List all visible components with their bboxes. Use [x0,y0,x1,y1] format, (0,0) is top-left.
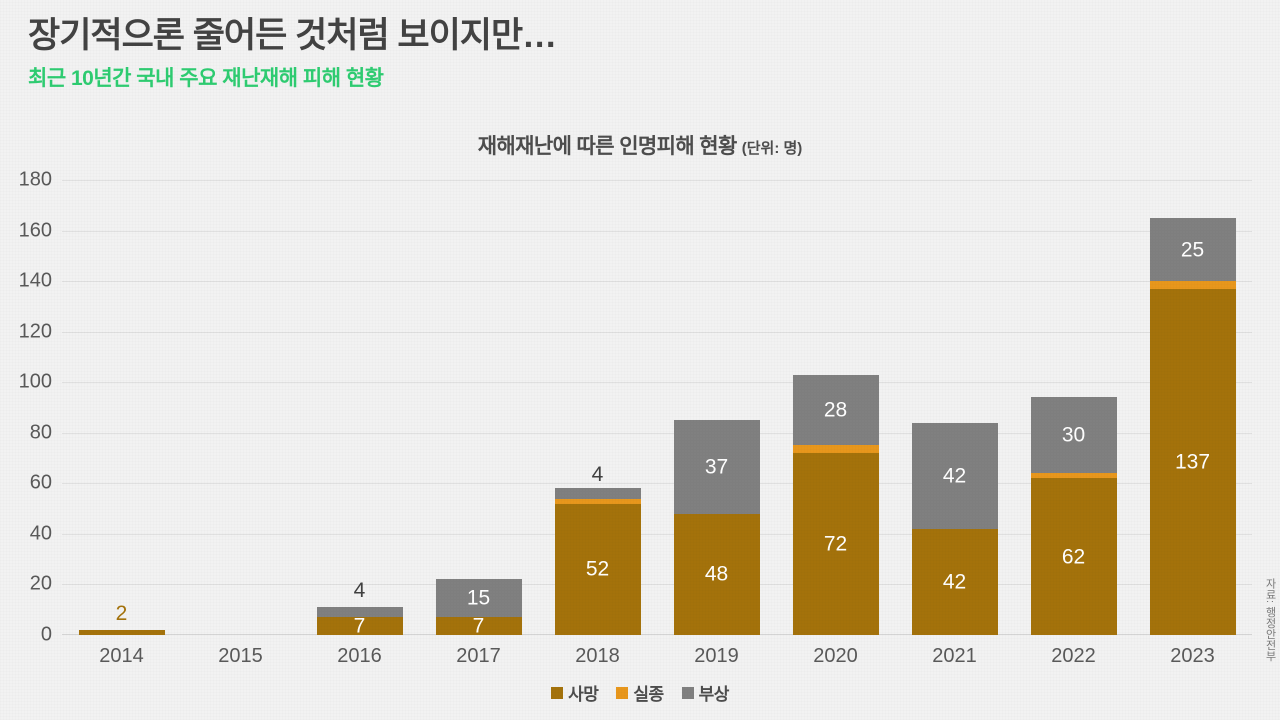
chart-title-text: 재해재난에 따른 인명피해 현황 [478,135,737,158]
headline-block: 장기적으론 줄어든 것처럼 보이지만… 최근 10년간 국내 주요 재난재해 피… [28,16,556,92]
page-subtitle: 최근 10년간 국내 주요 재난재해 피해 현황 [28,62,556,92]
legend-swatch-icon [616,687,628,699]
x-axis-tick: 2020 [776,645,895,668]
bar-slot: 2015 [181,180,300,635]
bar-segment[interactable] [79,630,165,635]
legend-swatch-icon [551,687,563,699]
x-axis-tick: 2022 [1014,645,1133,668]
x-axis-tick: 2017 [419,645,538,668]
bar-segment[interactable]: 42 [912,423,998,529]
stacked-bar[interactable]: 28372 [793,375,879,635]
page-title: 장기적으론 줄어든 것처럼 보이지만… [28,16,556,56]
bar-segment[interactable]: 3 [793,445,879,453]
bar-slot: 2531372023 [1133,180,1252,635]
y-axis-tick: 0 [41,624,52,647]
bar-slot: 302622022 [1014,180,1133,635]
stacked-bar[interactable]: 3748 [674,420,760,635]
y-axis-tick: 120 [19,320,52,343]
x-axis-tick: 2019 [657,645,776,668]
bar-segment[interactable]: 42 [912,529,998,635]
bar-value-label: 30 [1031,425,1117,446]
bar-segment[interactable] [555,488,641,498]
bar-value-label: 28 [793,400,879,421]
bar-slot: 37482019 [657,180,776,635]
chart-title-unit: (단위: 명) [742,140,803,157]
bar-value-label: 137 [1150,451,1236,472]
stacked-bar[interactable]: 74 [317,607,403,635]
bar-segment[interactable]: 30 [1031,397,1117,473]
y-axis-tick: 100 [19,371,52,394]
y-axis-tick: 180 [19,169,52,192]
bar-segment[interactable]: 48 [674,514,760,635]
bar-segment[interactable]: 7 [317,617,403,635]
stacked-bar[interactable]: 4242 [912,423,998,635]
legend-label: 실종 [633,680,663,705]
source-note: 자료: 행정안전부 [1262,578,1278,661]
bar-value-label: 62 [1031,546,1117,567]
bar-segment[interactable]: 52 [555,504,641,635]
bar-segment[interactable]: 137 [1150,289,1236,635]
bar-value-label: 4 [592,464,604,485]
bar-value-label: 2 [116,603,128,624]
bar-value-label: 7 [317,616,403,637]
bar-segment[interactable] [317,607,403,617]
y-axis-tick: 60 [30,472,52,495]
bar-slot: 22014 [62,180,181,635]
bar-segment[interactable]: 28 [793,375,879,446]
stacked-bar[interactable]: 2 [79,630,165,635]
stacked-bar[interactable]: 30262 [1031,397,1117,635]
bar-segment[interactable]: 25 [1150,218,1236,281]
legend-item[interactable]: 부상 [682,680,729,705]
bar-value-label: 52 [555,559,641,580]
legend-item[interactable]: 사망 [551,680,598,705]
chart-plot-area: 020406080100120140160180 220142015742016… [62,180,1252,635]
stacked-bar[interactable]: 253137 [1150,218,1236,635]
stacked-bar[interactable]: 1524 [555,488,641,635]
x-axis-tick: 2021 [895,645,1014,668]
bar-slot: 283722020 [776,180,895,635]
chart-title: 재해재난에 따른 인명피해 현황(단위: 명) [0,130,1280,160]
x-axis-tick: 2023 [1133,645,1252,668]
legend-label: 부상 [699,680,729,705]
bar-series-group: 2201420157420161572017152420183748201928… [62,180,1252,635]
bar-segment[interactable]: 7 [436,617,522,635]
bar-value-label: 42 [912,571,998,592]
bar-slot: 1572017 [419,180,538,635]
x-axis-tick: 2015 [181,645,300,668]
y-axis-tick: 40 [30,522,52,545]
bar-segment[interactable]: 37 [674,420,760,514]
bar-segment[interactable]: 62 [1031,478,1117,635]
legend-item[interactable]: 실종 [616,680,663,705]
y-axis-tick: 80 [30,421,52,444]
stacked-bar[interactable]: 157 [436,579,522,635]
x-axis-tick: 2016 [300,645,419,668]
bar-segment[interactable]: 3 [1150,281,1236,289]
y-axis-tick: 160 [19,219,52,242]
bar-slot: 42422021 [895,180,1014,635]
legend-swatch-icon [682,687,694,699]
x-axis-tick: 2014 [62,645,181,668]
bar-value-label: 7 [436,616,522,637]
y-axis-tick: 20 [30,573,52,596]
bar-value-label: 25 [1150,239,1236,260]
bar-value-label: 42 [912,465,998,486]
bar-slot: 742016 [300,180,419,635]
bar-value-label: 37 [674,456,760,477]
chart-legend: 사망실종부상 [0,680,1280,705]
bar-segment[interactable]: 72 [793,453,879,635]
bar-value-label: 48 [674,564,760,585]
bar-slot: 15242018 [538,180,657,635]
x-axis-tick: 2018 [538,645,657,668]
bar-value-label: 15 [436,588,522,609]
y-axis-tick: 140 [19,270,52,293]
legend-label: 사망 [568,680,598,705]
bar-value-label: 72 [793,534,879,555]
bar-segment[interactable]: 15 [436,579,522,617]
bar-value-label: 4 [354,580,366,601]
